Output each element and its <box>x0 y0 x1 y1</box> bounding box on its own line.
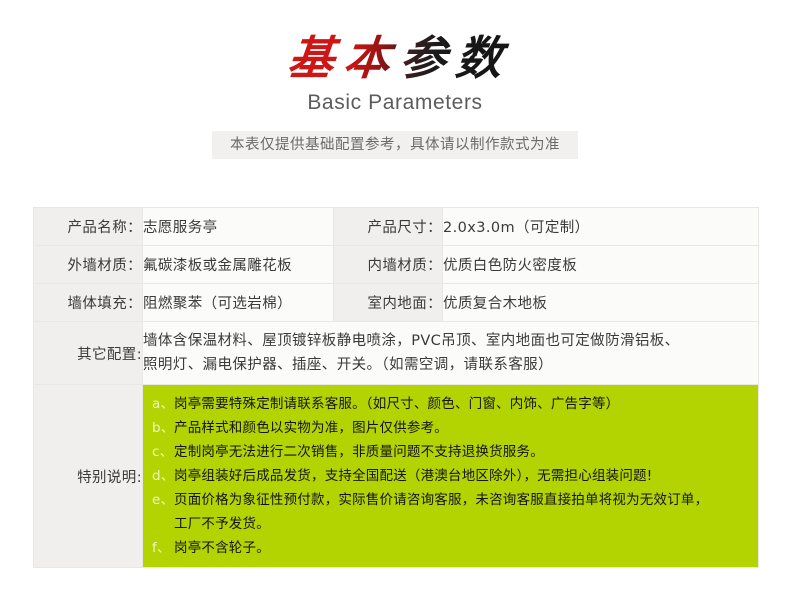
list-item-text: 页面价格为象征性预付款，实际售价请咨询客服，未咨询客服直接拍单将视为无效订单， <box>174 488 748 512</box>
other-config-line-1: 墙体含保温材料、屋顶镀锌板静电喷涂，PVC吊顶、室内地面也可定做防滑铝板、 <box>143 329 758 353</box>
cell-label-other-config: 其它配置: <box>34 322 143 385</box>
list-marker: e、 <box>152 488 174 512</box>
cell-value-indoor-floor: 优质复合木地板 <box>443 284 759 322</box>
special-notes-box: a、 岗亭需要特殊定制请联系客服。（如尺寸、颜色、门窗、内饰、广告字等） b、 … <box>143 385 758 567</box>
cell-value-wall-filling: 阻燃聚苯（可选岩棉） <box>143 284 334 322</box>
list-item-continuation: 工厂不予发货。 <box>152 512 748 536</box>
cell-label-interior-wall-material: 内墙材质： <box>334 246 443 284</box>
cell-label-special-notes: 特别说明: <box>34 385 143 568</box>
list-item-text: 定制岗亭无法进行二次销售，非质量问题不支持退换货服务。 <box>174 440 748 464</box>
table-row: 产品名称： 志愿服务亭 产品尺寸： 2.0x3.0m（可定制） <box>34 208 759 246</box>
list-item-text: 岗亭需要特殊定制请联系客服。（如尺寸、颜色、门窗、内饰、广告字等） <box>174 392 748 416</box>
cell-value-interior-wall-material: 优质白色防火密度板 <box>443 246 759 284</box>
list-item-text: 岗亭不含轮子。 <box>174 536 748 560</box>
list-marker: d、 <box>152 464 174 488</box>
spec-table-wrapper: 产品名称： 志愿服务亭 产品尺寸： 2.0x3.0m（可定制） 外墙材质： 氟碳… <box>33 207 758 568</box>
list-marker: a、 <box>152 392 174 416</box>
list-item: f、 岗亭不含轮子。 <box>152 536 748 560</box>
cell-label-product-name: 产品名称： <box>34 208 143 246</box>
table-row-other-config: 其它配置: 墙体含保温材料、屋顶镀锌板静电喷涂，PVC吊顶、室内地面也可定做防滑… <box>34 322 759 385</box>
list-marker: b、 <box>152 416 174 440</box>
page-subtitle-english: Basic Parameters <box>0 90 790 116</box>
list-item-text: 产品样式和颜色以实物为准，图片仅供参考。 <box>174 416 748 440</box>
cell-label-product-size: 产品尺寸： <box>334 208 443 246</box>
cell-value-product-size: 2.0x3.0m（可定制） <box>443 208 759 246</box>
spec-table: 产品名称： 志愿服务亭 产品尺寸： 2.0x3.0m（可定制） 外墙材质： 氟碳… <box>33 207 759 568</box>
notice-banner: 本表仅提供基础配置参考，具体请以制作款式为准 <box>212 131 578 159</box>
cell-value-product-name: 志愿服务亭 <box>143 208 334 246</box>
list-item: d、 岗亭组装好后成品发货，支持全国配送（港澳台地区除外），无需担心组装问题! <box>152 464 748 488</box>
list-item-text: 工厂不予发货。 <box>174 512 748 536</box>
cell-value-exterior-wall-material: 氟碳漆板或金属雕花板 <box>143 246 334 284</box>
list-marker: f、 <box>152 536 174 560</box>
table-row-special-notes: 特别说明: a、 岗亭需要特殊定制请联系客服。（如尺寸、颜色、门窗、内饰、广告字… <box>34 385 759 568</box>
cell-label-exterior-wall-material: 外墙材质： <box>34 246 143 284</box>
cell-value-other-config: 墙体含保温材料、屋顶镀锌板静电喷涂，PVC吊顶、室内地面也可定做防滑铝板、 照明… <box>143 322 759 385</box>
list-item: a、 岗亭需要特殊定制请联系客服。（如尺寸、颜色、门窗、内饰、广告字等） <box>152 392 748 416</box>
list-item: b、 产品样式和颜色以实物为准，图片仅供参考。 <box>152 416 748 440</box>
cell-label-indoor-floor: 室内地面： <box>334 284 443 322</box>
table-row: 外墙材质： 氟碳漆板或金属雕花板 内墙材质： 优质白色防火密度板 <box>34 246 759 284</box>
list-item-text: 岗亭组装好后成品发货，支持全国配送（港澳台地区除外），无需担心组装问题! <box>174 464 748 488</box>
list-item: c、 定制岗亭无法进行二次销售，非质量问题不支持退换货服务。 <box>152 440 748 464</box>
list-marker: c、 <box>152 440 174 464</box>
notice-banner-wrapper: 本表仅提供基础配置参考，具体请以制作款式为准 <box>0 131 790 159</box>
page-header: 基本参数 Basic Parameters <box>0 0 790 116</box>
list-item: e、 页面价格为象征性预付款，实际售价请咨询客服，未咨询客服直接拍单将视为无效订… <box>152 488 748 512</box>
other-config-line-2: 照明灯、漏电保护器、插座、开关。（如需空调，请联系客服） <box>143 353 758 377</box>
cell-label-wall-filling: 墙体填充： <box>34 284 143 322</box>
cell-value-special-notes: a、 岗亭需要特殊定制请联系客服。（如尺寸、颜色、门窗、内饰、广告字等） b、 … <box>143 385 759 568</box>
page-title-chinese: 基本参数 <box>275 30 515 86</box>
table-row: 墙体填充： 阻燃聚苯（可选岩棉） 室内地面： 优质复合木地板 <box>34 284 759 322</box>
